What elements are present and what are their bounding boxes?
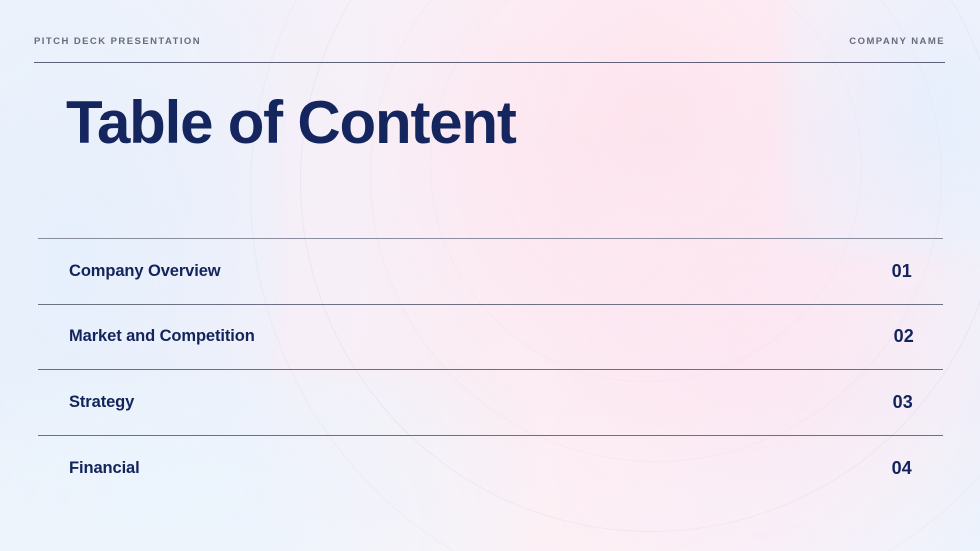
toc-item-number: 04 (892, 458, 943, 479)
toc-item-label: Strategy (38, 393, 134, 412)
toc-item-strategy[interactable]: Strategy 03 (38, 369, 943, 435)
toc-item-label: Company Overview (38, 262, 221, 281)
page-title: Table of Content (66, 89, 516, 157)
toc-item-company-overview[interactable]: Company Overview 01 (38, 238, 943, 304)
header-right-label: COMPANY NAME (849, 36, 945, 47)
toc-item-number: 03 (893, 392, 943, 413)
slide-header: PITCH DECK PRESENTATION COMPANY NAME (34, 36, 945, 47)
toc-item-number: 02 (894, 326, 943, 347)
toc-item-financial[interactable]: Financial 04 (38, 435, 943, 501)
slide-content: PITCH DECK PRESENTATION COMPANY NAME Tab… (0, 0, 980, 551)
presentation-slide: PITCH DECK PRESENTATION COMPANY NAME Tab… (0, 0, 980, 551)
table-of-contents-list: Company Overview 01 Market and Competiti… (38, 238, 943, 500)
toc-item-label: Financial (38, 459, 140, 478)
header-left-label: PITCH DECK PRESENTATION (34, 36, 201, 47)
toc-item-market-and-competition[interactable]: Market and Competition 02 (38, 304, 943, 370)
toc-item-label: Market and Competition (38, 327, 255, 346)
header-divider (34, 62, 945, 63)
toc-item-number: 01 (892, 261, 943, 282)
